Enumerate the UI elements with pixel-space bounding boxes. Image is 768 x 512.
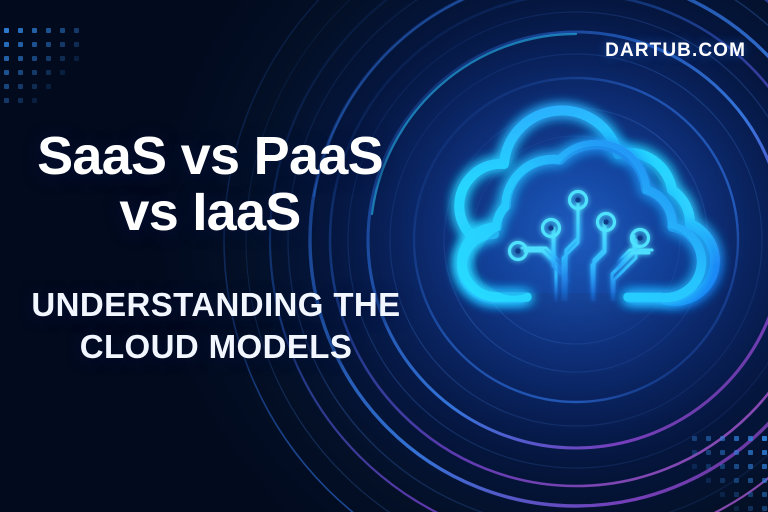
page-subtitle-line-2: CLOUD MODELS [80, 328, 352, 365]
page-title: SaaS vs PaaS vs IaaS [0, 128, 420, 240]
poster-canvas: DARTUB.COM SaaS vs PaaS vs IaaS UNDERSTA… [0, 0, 768, 512]
brand-logo: DARTUB.COM [605, 40, 746, 62]
page-title-line-2: vs IaaS [0, 184, 420, 240]
cloud-circuit-icon [0, 0, 768, 512]
page-subtitle: UNDERSTANDING THE CLOUD MODELS [0, 284, 432, 368]
page-subtitle-line-1: UNDERSTANDING THE [31, 286, 400, 323]
page-title-line-1: SaaS vs PaaS [0, 128, 420, 184]
